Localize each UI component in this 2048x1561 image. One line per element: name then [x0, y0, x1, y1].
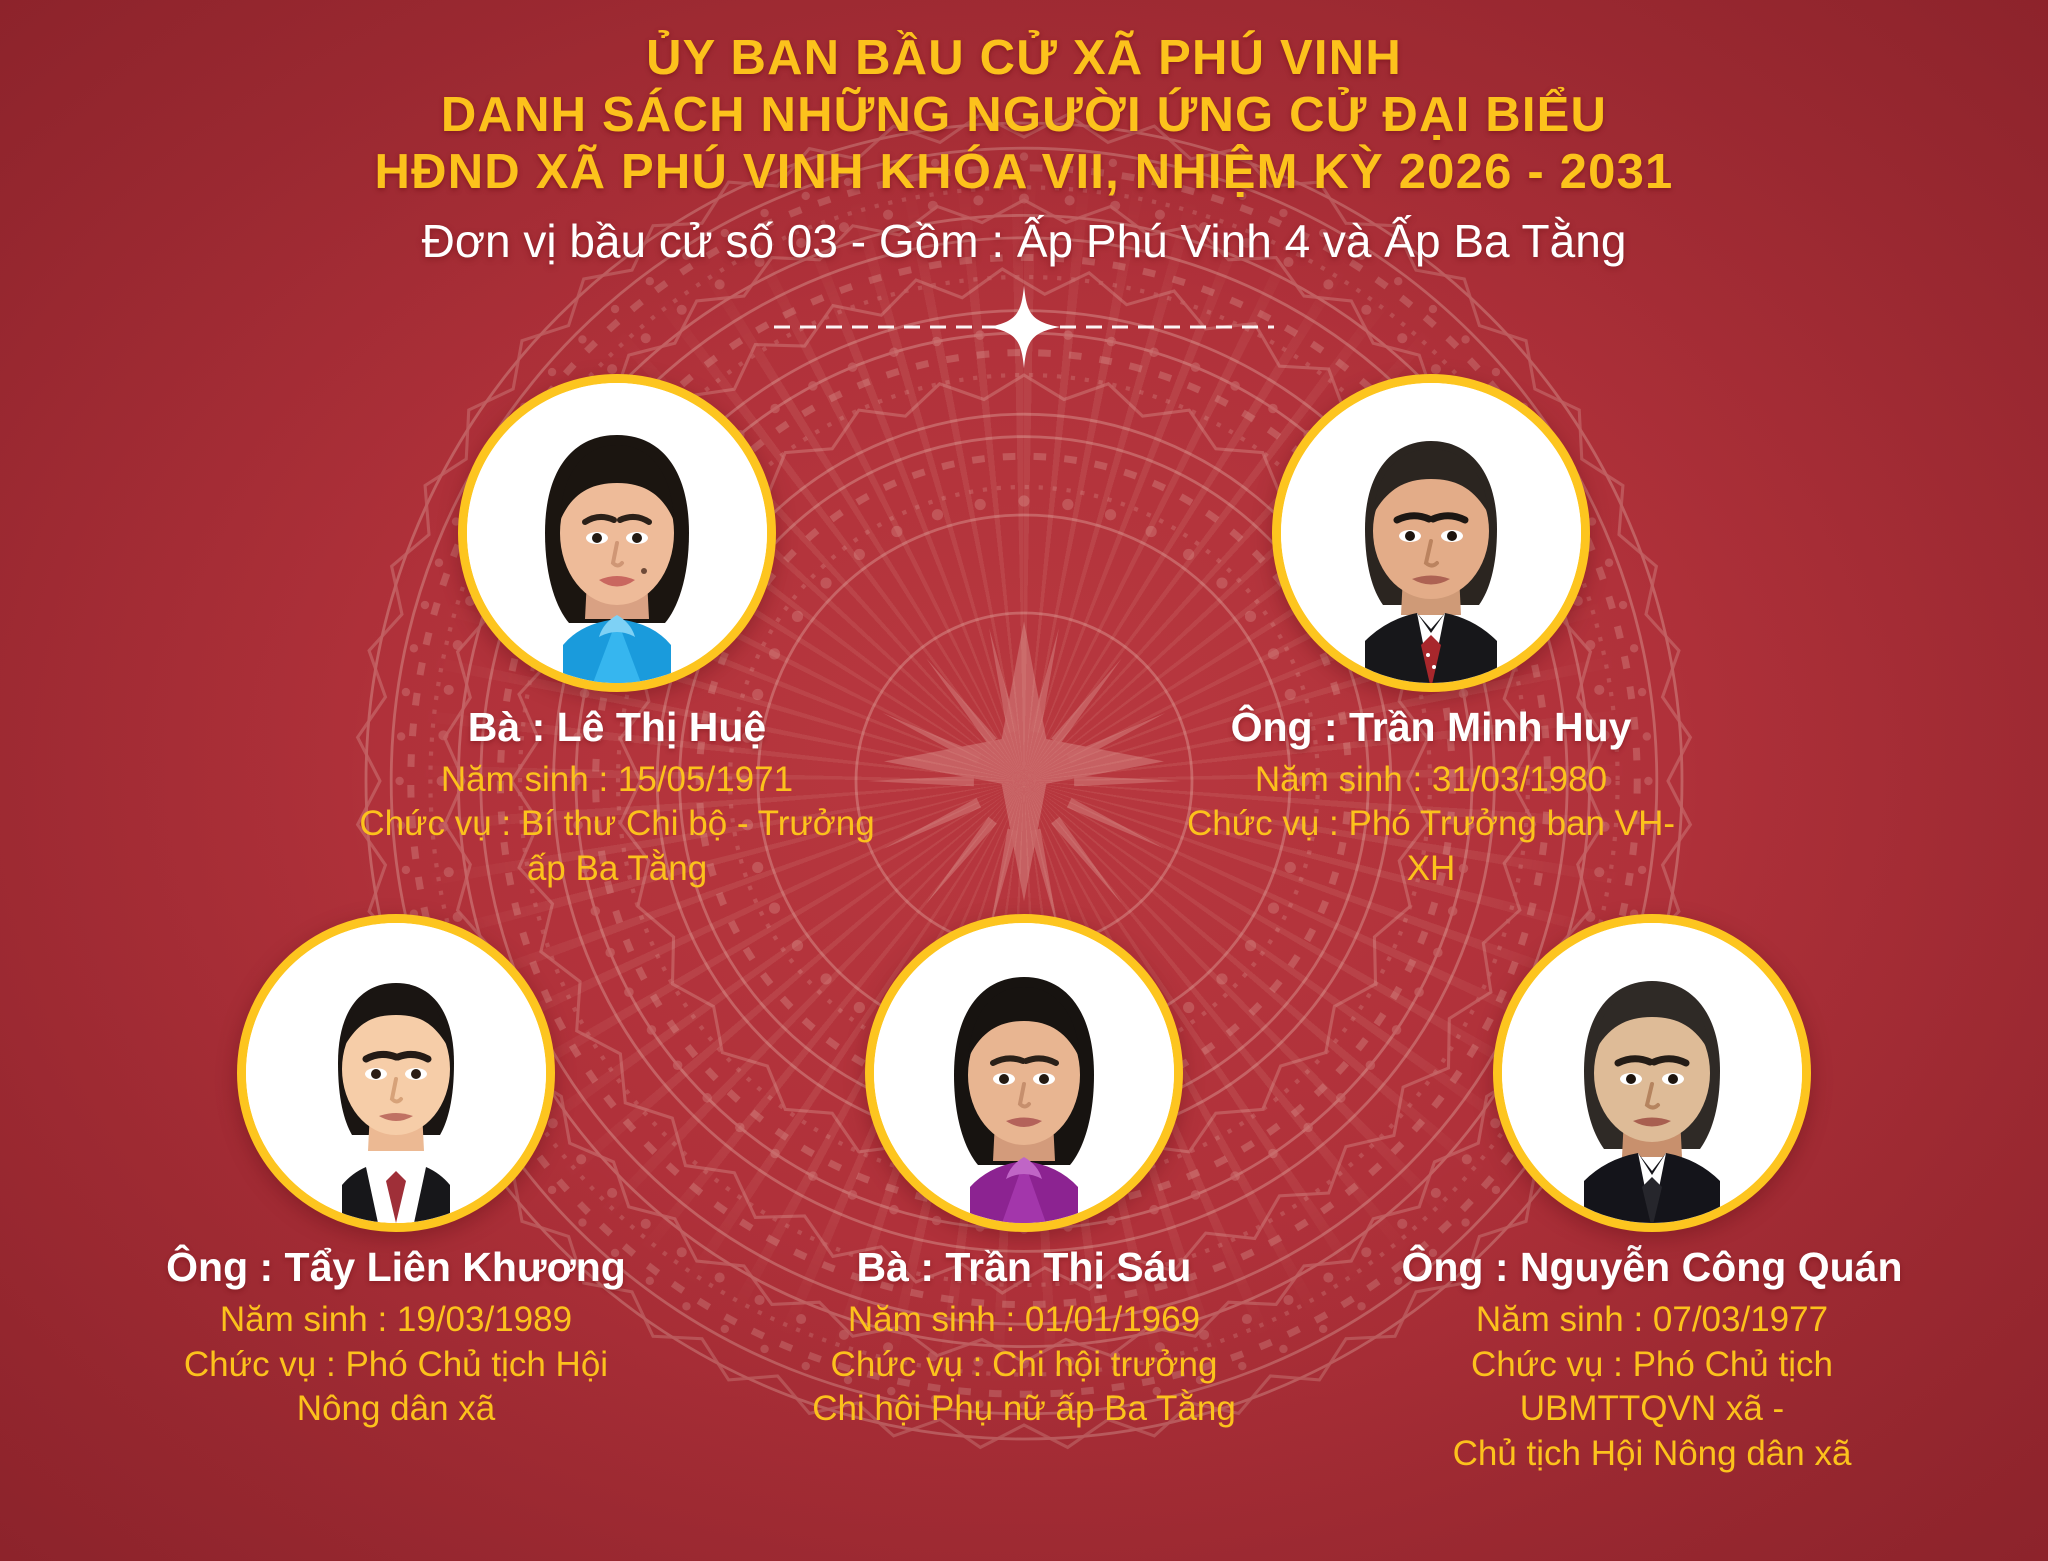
candidate-card[interactable]: Bà : Trần Thị Sáu Năm sinh : 01/01/1969 … — [764, 914, 1284, 1477]
avatar — [458, 374, 776, 692]
candidate-card[interactable]: Ông : Tẩy Liên Khương Năm sinh : 19/03/1… — [136, 914, 656, 1477]
candidate-name: Ông : Nguyễn Công Quán — [1392, 1244, 1912, 1291]
candidate-card[interactable]: Bà : Lê Thị Huệ Năm sinh : 15/05/1971 Ch… — [347, 374, 887, 892]
candidate-position: Chức vụ : Phó Chủ tịch UBMTTQVN xã - Chủ… — [1392, 1343, 1912, 1477]
candidate-card[interactable]: Ông : Trần Minh Huy Năm sinh : 31/03/198… — [1161, 374, 1701, 892]
title-line-term: HĐND XÃ PHÚ VINH KHÓA VII, NHIỆM KỲ 2026… — [0, 144, 2048, 201]
candidate-dob: Năm sinh : 19/03/1989 — [136, 1297, 656, 1343]
title-line-committee: ỦY BAN BẦU CỬ XÃ PHÚ VINH — [0, 30, 2048, 87]
subtitle-constituency: Đơn vị bầu cử số 03 - Gồm : Ấp Phú Vinh … — [0, 214, 2048, 269]
candidate-position-line-1: Chức vụ : Phó Chủ tịch Hội Nông dân xã — [184, 1345, 608, 1429]
candidate-position: Chức vụ : Chi hội trưởng Chi hội Phụ nữ … — [764, 1343, 1284, 1433]
candidate-position-line-2: Chi hội Phụ nữ ấp Ba Tằng — [768, 1387, 1280, 1432]
candidate-card[interactable]: Ông : Nguyễn Công Quán Năm sinh : 07/03/… — [1392, 914, 1912, 1477]
avatar — [1272, 374, 1590, 692]
avatar — [1493, 914, 1811, 1232]
candidate-dob: Năm sinh : 01/01/1969 — [764, 1297, 1284, 1343]
avatar — [237, 914, 555, 1232]
candidate-row-bottom: Ông : Tẩy Liên Khương Năm sinh : 19/03/1… — [0, 914, 2048, 1477]
title-line-list: DANH SÁCH NHỮNG NGƯỜI ỨNG CỬ ĐẠI BIỂU — [0, 87, 2048, 144]
candidate-dob: Năm sinh : 07/03/1977 — [1392, 1297, 1912, 1343]
candidate-position-line-1: Chức vụ : Phó Chủ tịch UBMTTQVN xã - — [1471, 1345, 1833, 1429]
candidate-position: Chức vụ : Phó Chủ tịch Hội Nông dân xã — [136, 1343, 656, 1433]
candidate-name: Bà : Trần Thị Sáu — [764, 1244, 1284, 1291]
poster-header: ỦY BAN BẦU CỬ XÃ PHÚ VINH DANH SÁCH NHỮN… — [0, 0, 2048, 270]
candidate-position-line-1: Chức vụ : Phó Trưởng ban VH-XH — [1187, 804, 1675, 888]
decorative-divider — [774, 292, 1274, 362]
candidate-position: Chức vụ : Phó Trưởng ban VH-XH — [1161, 802, 1701, 892]
candidate-name: Ông : Tẩy Liên Khương — [136, 1244, 656, 1291]
election-candidate-poster: ỦY BAN BẦU CỬ XÃ PHÚ VINH DANH SÁCH NHỮN… — [0, 0, 2048, 1561]
candidate-name: Bà : Lê Thị Huệ — [347, 704, 887, 751]
candidate-row-top: Bà : Lê Thị Huệ Năm sinh : 15/05/1971 Ch… — [0, 374, 2048, 892]
candidate-name: Ông : Trần Minh Huy — [1161, 704, 1701, 751]
sparkle-four-point-icon — [981, 284, 1067, 370]
candidate-position-line-2: Chủ tịch Hội Nông dân xã — [1396, 1432, 1908, 1477]
candidate-position: Chức vụ : Bí thư Chi bộ - Trưởng ấp Ba T… — [347, 802, 887, 892]
candidate-position-line-1: Chức vụ : Bí thư Chi bộ - Trưởng ấp Ba T… — [359, 804, 874, 888]
avatar — [865, 914, 1183, 1232]
candidate-dob: Năm sinh : 31/03/1980 — [1161, 757, 1701, 803]
candidate-position-line-1: Chức vụ : Chi hội trưởng — [831, 1345, 1218, 1384]
candidate-dob: Năm sinh : 15/05/1971 — [347, 757, 887, 803]
